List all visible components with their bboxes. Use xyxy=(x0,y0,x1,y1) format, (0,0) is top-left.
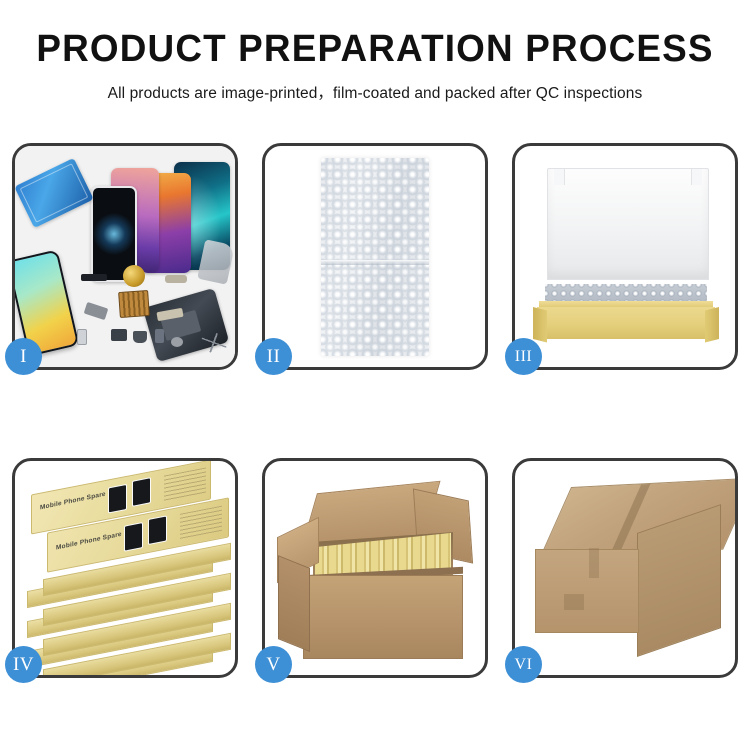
box-lid-icon xyxy=(547,168,709,280)
carton-front-face xyxy=(535,549,639,633)
step-badge-5: V xyxy=(255,646,292,683)
box-spec-lines xyxy=(164,467,206,501)
step-badge-1: I xyxy=(5,338,42,375)
step-badge-3: III xyxy=(505,338,542,375)
chip-grid-icon xyxy=(118,290,150,318)
step-card-inner-box: III xyxy=(512,143,738,370)
process-steps-grid: I II III xyxy=(12,143,738,678)
step-image-phone-parts xyxy=(15,146,235,367)
step-badge-2: II xyxy=(255,338,292,375)
page-subtitle: All products are image-printed，film-coat… xyxy=(0,81,750,103)
speaker-icon xyxy=(133,331,147,343)
connector-icon xyxy=(165,275,187,283)
product-preparation-page: PRODUCT PREPARATION PROCESS All products… xyxy=(0,0,750,750)
step-badge-4: IV xyxy=(5,646,42,683)
step-card-bubble-wrap: II xyxy=(262,143,488,370)
carton-body-icon xyxy=(303,575,463,659)
bubble-wrap-fold xyxy=(321,260,429,265)
sim-tray-icon xyxy=(77,329,87,345)
bubble-wrap-icon xyxy=(321,158,429,356)
carton-tab-icon xyxy=(564,594,584,610)
gold-coil-icon xyxy=(123,265,145,287)
camera-module-icon xyxy=(111,329,127,341)
page-header: PRODUCT PREPARATION PROCESS All products… xyxy=(0,0,750,103)
step-card-open-carton: V xyxy=(262,458,488,678)
lens-icon xyxy=(171,337,183,347)
flex-cable-icon xyxy=(81,274,107,281)
step-image-sealed-carton xyxy=(515,461,735,675)
screen-panel-icon xyxy=(15,158,94,228)
sealed-carton-illustration xyxy=(535,487,721,657)
box-screen-image xyxy=(148,515,167,545)
page-title: PRODUCT PREPARATION PROCESS xyxy=(11,30,739,70)
inner-box-illustration xyxy=(533,164,717,345)
box-front-icon xyxy=(537,307,715,339)
box-screen-image xyxy=(124,522,143,552)
box-screen-image xyxy=(108,484,127,514)
phone-parts-illustration xyxy=(15,146,235,367)
step-image-open-carton xyxy=(265,461,485,675)
step-badge-6: VI xyxy=(505,646,542,683)
box-spec-lines xyxy=(180,506,222,540)
box-screen-image xyxy=(132,477,151,507)
step-card-sealed-carton: VI xyxy=(512,458,738,678)
step-image-stacked-boxes: Mobile Phone Spare Parts Mobile Phone Sp… xyxy=(15,461,235,675)
open-carton-illustration xyxy=(277,485,475,665)
bracket-icon xyxy=(84,302,109,320)
step-card-phone-parts: I xyxy=(12,143,238,370)
button-icon xyxy=(155,329,164,343)
stacked-boxes-illustration: Mobile Phone Spare Parts Mobile Phone Sp… xyxy=(21,475,231,673)
step-image-bubble-wrap xyxy=(265,146,485,367)
step-image-inner-box xyxy=(515,146,735,367)
step-card-stacked-boxes: Mobile Phone Spare Parts Mobile Phone Sp… xyxy=(12,458,238,678)
